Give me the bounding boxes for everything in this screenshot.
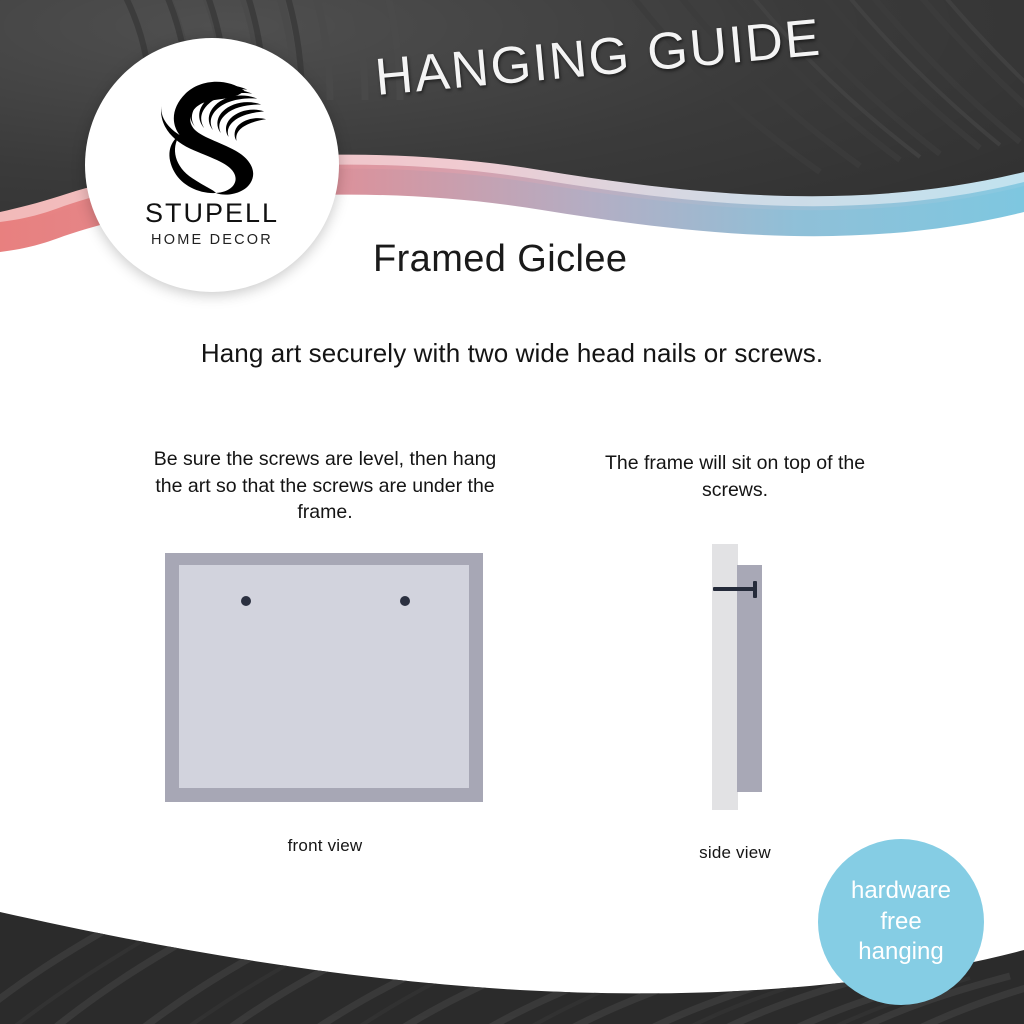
stupell-logo-badge: STUPELL HOME DECOR [85,38,339,292]
nail-shaft-icon [713,587,757,591]
product-type-heading: Framed Giclee [373,238,627,281]
screw-dot-left [241,596,251,606]
logo-wordmark: STUPELL [145,200,279,227]
side-view-wall [712,544,738,810]
front-view-caption: Be sure the screws are level, then hang … [140,446,510,526]
stupell-swoosh-icon [153,68,271,198]
framed-art-front-icon [165,553,483,802]
framed-art-side-icon [706,544,776,810]
hardware-free-hanging-badge: hardware free hanging [818,839,984,1005]
side-view-label: side view [640,843,830,863]
badge-line-2: free [880,907,921,937]
side-view-caption: The frame will sit on top of the screws. [575,450,895,503]
page-title: HANGING GUIDE [373,8,824,108]
badge-line-1: hardware [851,876,951,906]
nail-head-icon [753,581,757,598]
front-view-label: front view [200,836,450,856]
side-view-frame [737,565,762,792]
main-instruction-text: Hang art securely with two wide head nai… [0,338,1024,369]
badge-line-3: hanging [858,937,943,967]
logo-subword: HOME DECOR [151,233,273,248]
screw-dot-right [400,596,410,606]
hanging-guide-page: STUPELL HOME DECOR HANGING GUIDE Framed … [0,0,1024,1024]
front-view-mat [179,565,469,788]
